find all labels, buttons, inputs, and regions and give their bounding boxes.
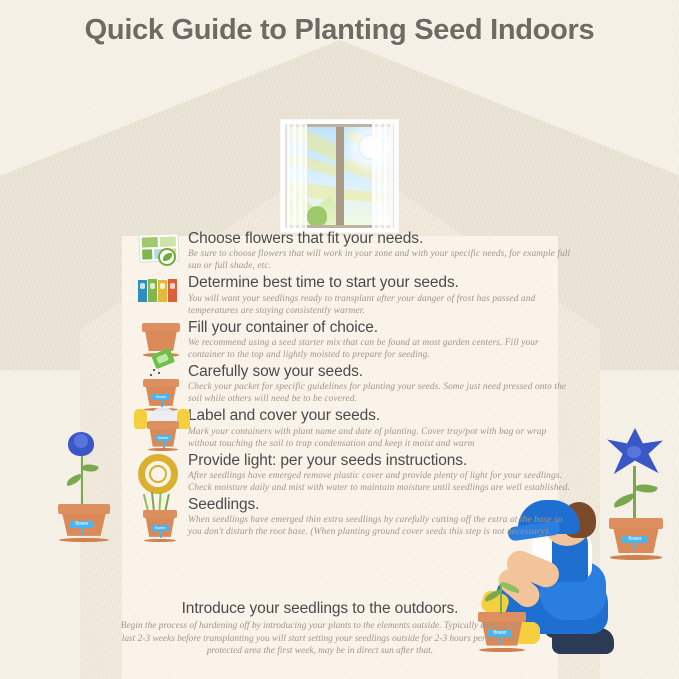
outdoors-body: Begin the process of hardening off by in…: [120, 620, 520, 658]
step-heading: Provide light: per your seeds instructio…: [188, 452, 576, 470]
outdoors-heading: Introduce your seedlings to the outdoors…: [120, 600, 520, 618]
sun-light-icon: [136, 452, 184, 498]
tree-shape: [307, 206, 327, 226]
seed-packets-icon: [136, 274, 184, 320]
step-body: After seedlings have emerged remove plas…: [188, 470, 576, 494]
step-heading: Fill your container of choice.: [188, 319, 576, 337]
step-item: Choose flowers that fit your needs. Be s…: [136, 230, 576, 272]
step-item: flower Carefully sow your seeds. Check y…: [136, 363, 576, 405]
sunny-window-illustration: [281, 120, 398, 232]
step-item: Provide light: per your seeds instructio…: [136, 452, 576, 494]
step-item: Determine best time to start your seeds.…: [136, 274, 576, 316]
glove-left-icon: [134, 409, 147, 429]
step-body: When seedlings have emerged thin extra s…: [188, 514, 576, 538]
step-item: flower Seedlings. When seedlings have em…: [136, 496, 576, 538]
window-mullion: [336, 124, 344, 228]
step-item: Fill your container of choice. We recomm…: [136, 319, 576, 361]
infographic-poster: Quick Guide to Planting Seed Indoors: [0, 0, 679, 679]
plant-tag: flower: [155, 435, 171, 441]
step-body: We recommend using a seed starter mix th…: [188, 337, 576, 361]
step-heading: Carefully sow your seeds.: [188, 363, 576, 381]
step-heading: Determine best time to start your seeds.: [188, 274, 576, 292]
decorative-plant-left: flower: [52, 420, 114, 542]
plant-tag: flower: [70, 521, 94, 528]
step-body: Check your packet for specific guideline…: [188, 381, 576, 405]
step-heading: Label and cover your seeds.: [188, 407, 576, 425]
curtain-left: [281, 120, 307, 232]
step-body: Be sure to choose flowers that will work…: [188, 248, 576, 272]
step-body: You will want your seedlings ready to tr…: [188, 293, 576, 317]
seedlings-pot-icon: flower: [136, 496, 184, 548]
page-title: Quick Guide to Planting Seed Indoors: [0, 14, 679, 47]
curtain-right: [372, 120, 398, 232]
plant-tag: flower: [151, 525, 169, 531]
step-heading: Choose flowers that fit your needs.: [188, 230, 576, 248]
plant-tag: flower: [152, 394, 170, 400]
step-item: flower Label and cover your seeds. Mark …: [136, 407, 576, 449]
outdoors-section: Introduce your seedlings to the outdoors…: [120, 600, 520, 658]
seed-catalog-icon: [136, 230, 184, 276]
step-body: Mark your containers with plant name and…: [188, 426, 576, 450]
gloves-covering-pot-icon: flower: [136, 407, 192, 457]
flower-pot: flower: [58, 504, 110, 542]
steps-list: Choose flowers that fit your needs. Be s…: [136, 230, 576, 540]
step-heading: Seedlings.: [188, 496, 576, 514]
